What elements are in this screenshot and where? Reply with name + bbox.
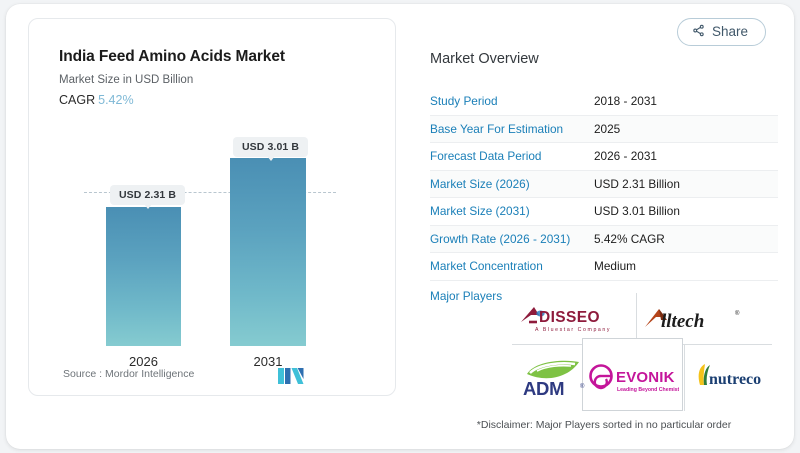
row-key: Base Year For Estimation <box>430 122 594 136</box>
table-row: Market Concentration Medium <box>430 253 778 281</box>
row-value: USD 3.01 Billion <box>594 204 680 218</box>
row-value: 2018 - 2031 <box>594 94 657 108</box>
market-overview-table: Study Period 2018 - 2031 Base Year For E… <box>430 88 778 311</box>
svg-text:lltech: lltech <box>661 311 704 332</box>
row-value: Medium <box>594 259 636 273</box>
svg-text:EVONIK: EVONIK <box>616 369 675 386</box>
mordor-intelligence-logo <box>278 366 304 389</box>
disclaimer-text: *Disclaimer: Major Players sorted in no … <box>430 419 778 431</box>
logo-evonik: EVONIK Leading Beyond Chemistry <box>584 355 682 401</box>
table-row: Growth Rate (2026 - 2031) 5.42% CAGR <box>430 226 778 254</box>
row-key: Market Size (2026) <box>430 177 594 191</box>
row-key: Forecast Data Period <box>430 149 594 163</box>
svg-text:®: ® <box>735 310 740 317</box>
svg-text:ADM: ADM <box>523 378 564 399</box>
x-axis-tick-2026: 2026 <box>106 354 181 369</box>
table-row: Market Size (2026) USD 2.31 Billion <box>430 171 778 199</box>
bar-chart-plot-area: USD 2.31 B USD 3.01 B 2026 2031 <box>28 18 396 396</box>
logo-nutreco: nutreco <box>690 357 772 397</box>
share-button[interactable]: Share <box>677 18 766 46</box>
row-value: 5.42% CAGR <box>594 232 665 246</box>
table-row: Forecast Data Period 2026 - 2031 <box>430 143 778 171</box>
market-overview-title: Market Overview <box>430 51 539 67</box>
row-key: Study Period <box>430 94 594 108</box>
grid-divider-vertical-right <box>684 344 685 411</box>
row-key: Market Size (2031) <box>430 204 594 218</box>
row-value: 2026 - 2031 <box>594 149 657 163</box>
svg-text:nutreco: nutreco <box>709 371 761 388</box>
bar-label-2026: USD 2.31 B <box>110 185 185 205</box>
row-value: 2025 <box>594 122 620 136</box>
table-row: Study Period 2018 - 2031 <box>430 88 778 116</box>
grid-divider-vertical-top <box>636 293 637 344</box>
table-row: Market Size (2031) USD 3.01 Billion <box>430 198 778 226</box>
svg-text:A Bluestar Company: A Bluestar Company <box>535 327 611 333</box>
share-button-label: Share <box>712 25 748 39</box>
bar-2031[interactable] <box>230 158 306 346</box>
table-row: Base Year For Estimation 2025 <box>430 116 778 144</box>
row-value: USD 2.31 Billion <box>594 177 680 191</box>
report-card: Share India Feed Amino Acids Market Mark… <box>6 4 794 449</box>
screenshot-root: Share India Feed Amino Acids Market Mark… <box>0 0 800 453</box>
bar-2026[interactable] <box>106 207 181 346</box>
share-nodes-icon <box>692 24 705 40</box>
row-key: Market Concentration <box>430 259 594 273</box>
logo-alltech: lltech ® <box>640 299 760 339</box>
major-players-logo-grid: DISSEO A Bluestar Company lltech ® <box>512 293 772 411</box>
logo-adisseo: DISSEO A Bluestar Company <box>514 299 632 339</box>
chart-source: Source : Mordor Intelligence <box>63 368 194 380</box>
svg-text:Leading Beyond Chemistry: Leading Beyond Chemistry <box>617 387 679 393</box>
svg-text:DISSEO: DISSEO <box>539 309 600 326</box>
bar-label-2031: USD 3.01 B <box>233 137 308 157</box>
row-key: Growth Rate (2026 - 2031) <box>430 232 594 246</box>
